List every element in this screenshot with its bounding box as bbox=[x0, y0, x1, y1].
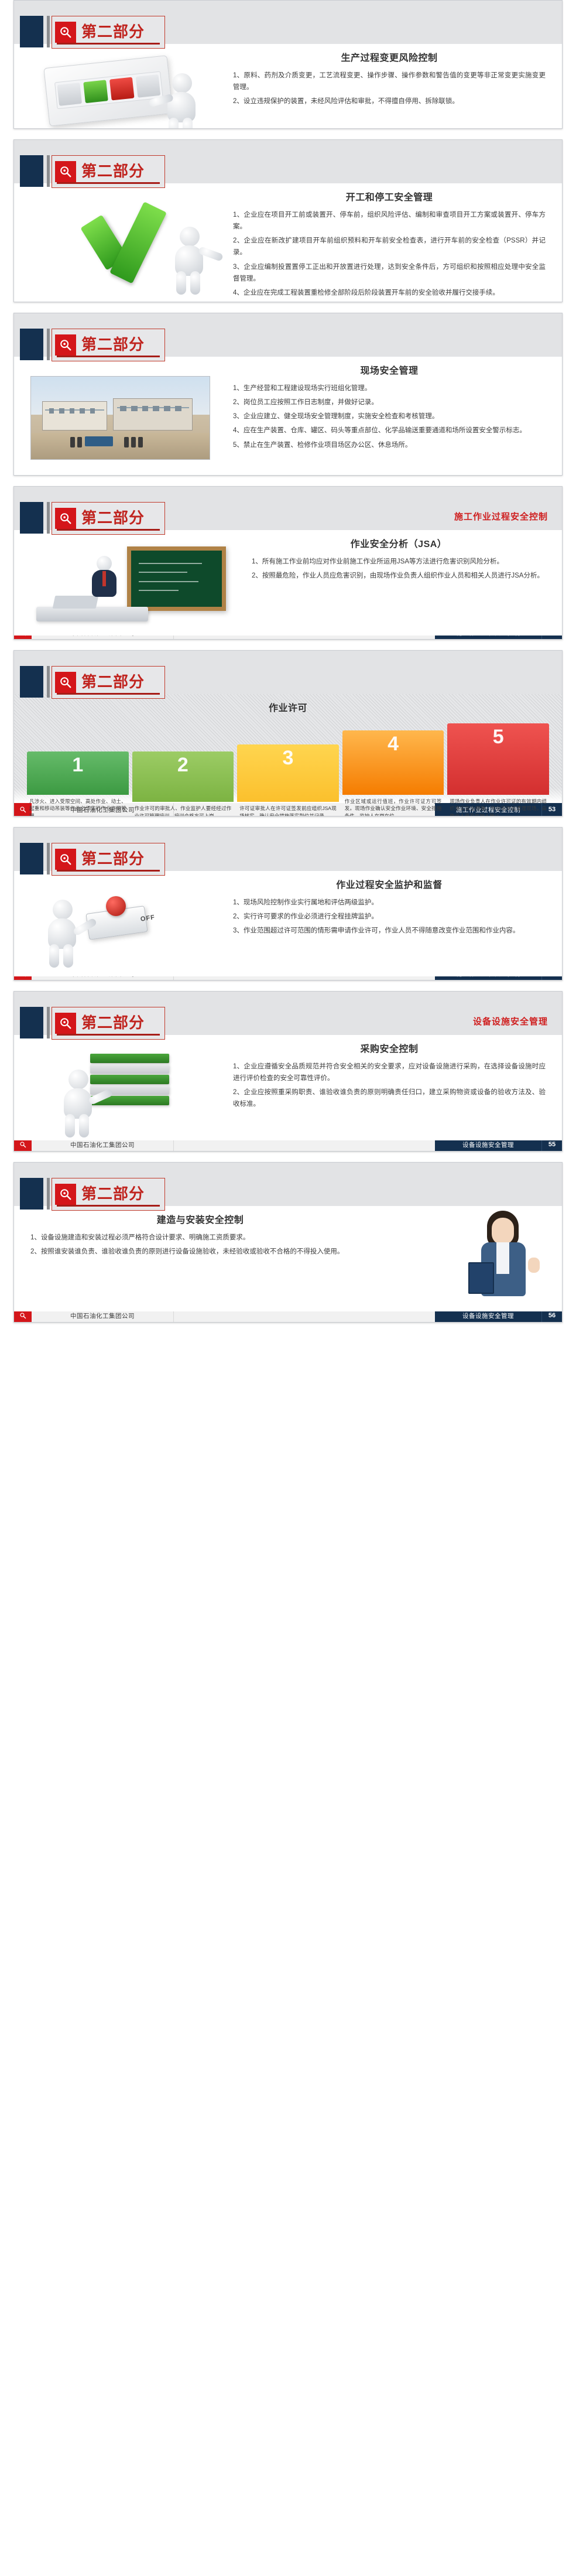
header-title-plate: 第二部分 bbox=[52, 16, 165, 49]
figure-3d-person bbox=[84, 556, 125, 612]
header-underline bbox=[57, 1205, 160, 1207]
step-bar: 4 bbox=[342, 730, 444, 795]
header-navy-block bbox=[20, 1007, 43, 1038]
list-item: 1、所有施工作业前均应对作业前施工作业所运用JSA等方法进行危害识别风险分析。 bbox=[252, 556, 546, 568]
header-title-plate: 第二部分 bbox=[52, 843, 165, 876]
header-underline bbox=[57, 529, 160, 531]
header-title-plate: 第二部分 bbox=[52, 1178, 165, 1211]
slide-text: 建造与安装安全控制 1、设备设施建造和安装过程必须严格符合设计要求、明确施工资质… bbox=[14, 1206, 386, 1311]
figure-3d-person bbox=[30, 900, 94, 968]
step-item: 2 作业许可的审批人、作业监护人要经经过作业许可管理培训，培训合格方可上岗。 bbox=[132, 751, 234, 816]
slide-title: 作业安全分析（JSA） bbox=[252, 536, 546, 550]
slide-title: 作业过程安全监护和监督 bbox=[233, 877, 546, 891]
bullet-list: 1、设备设施建造和安装过程必须严格符合设计要求、明确施工资质要求。 2、按照谁安… bbox=[30, 1232, 370, 1258]
figure-3d-person bbox=[150, 73, 213, 129]
step-number: 2 bbox=[177, 755, 188, 775]
header-navy-block bbox=[20, 502, 43, 534]
list-item: 2、企业应按照重采购职责、谁验收谁负责的原则明确责任归口，建立采购物资或设备的验… bbox=[233, 1087, 546, 1110]
search-target-icon bbox=[55, 161, 76, 182]
step-number: 5 bbox=[493, 727, 504, 747]
slide-title: 生产过程变更风险控制 bbox=[233, 50, 546, 64]
slide: 第二部分 作业许可 1 凡涉火、进入受限空间、高处作业、动土、起重和移动吊装等作… bbox=[13, 650, 563, 816]
search-target-icon bbox=[55, 1013, 76, 1034]
slide-illustration bbox=[14, 44, 229, 129]
slide-illustration: OFF bbox=[14, 871, 229, 976]
header-underline bbox=[57, 43, 160, 45]
step-caption: 作业区域或运行值班，作业许可证方可签发。现场作业确认安全作业环境、安全措施条件，… bbox=[342, 795, 444, 816]
search-target-icon bbox=[55, 849, 76, 870]
header-underline bbox=[57, 182, 160, 184]
header-underline bbox=[57, 1034, 160, 1036]
slide-title: 开工和停工安全管理 bbox=[233, 189, 546, 203]
header-navy-block bbox=[20, 155, 43, 187]
list-item: 3、企业应编制投置置停工正出和开放置进行处理，达到安全条件后，方可组织和按照相应… bbox=[233, 261, 546, 285]
jsa-classroom-board bbox=[127, 546, 226, 611]
slide-title: 建造与安装安全控制 bbox=[30, 1212, 370, 1226]
header-grey-tick bbox=[47, 502, 50, 534]
step-item: 5 现场作业负责人在作业许可证的有效期内组织落实安全措施，作业完毕后清理现场，由… bbox=[447, 723, 549, 816]
list-item: 2、设立违规保护的装置，未经风险评估和审批，不得擅自停用、拆除联锁。 bbox=[233, 95, 546, 107]
header-grey-tick bbox=[47, 1007, 50, 1038]
step-bar: 2 bbox=[132, 751, 234, 802]
list-item: 1、原料、药剂及介质变更，工艺流程变更、操作步骤、操作参数和警告值的变更等非正常… bbox=[233, 70, 546, 93]
slide: 第二部分 施工作业过程安全控制 作 bbox=[13, 486, 563, 640]
slide-text: 作业安全分析（JSA） 1、所有施工作业前均应对作业前施工作业所运用JSA等方法… bbox=[248, 530, 562, 636]
header-underline bbox=[57, 870, 160, 872]
slide-header: 第二部分 开工和停工安全管理 bbox=[14, 140, 562, 289]
header-title-plate: 第二部分 bbox=[52, 155, 165, 188]
header-grey-tick bbox=[47, 16, 50, 47]
step-caption: 作业许可的审批人、作业监护人要经经过作业许可管理培训，培训合格方可上岗。 bbox=[132, 802, 234, 816]
slide: 第二部分 OFF bbox=[13, 827, 563, 980]
list-item: 2、企业应在新改扩建项目开车前组织预料和开车前安全检查表，进行开车前的安全检查（… bbox=[233, 235, 546, 258]
slide-title: 采购安全控制 bbox=[233, 1041, 546, 1055]
slide-header: 第二部分 设备设施安全管理 采 bbox=[14, 992, 562, 1138]
search-target-icon bbox=[55, 1184, 76, 1205]
step-bar: 3 bbox=[237, 744, 339, 802]
bullet-list: 1、企业应遵循安全品质规范并符合安全相关的安全要求，应对设备设施进行采购，在选择… bbox=[233, 1061, 546, 1111]
list-item: 2、按照最危险，作业人员应危害识别，由现场作业负责人组织作业人员和相关人员进行J… bbox=[252, 570, 546, 582]
slide-illustration bbox=[14, 183, 229, 302]
bullet-list: 1、原料、药剂及介质变更，工艺流程变更、操作步骤、操作参数和警告值的变更等非正常… bbox=[233, 70, 546, 107]
header-part-label: 第二部分 bbox=[81, 25, 145, 40]
list-item: 4、应在生产装置、仓库、罐区、码头等重点部位、化学品输送重要通道和场所设置安全警… bbox=[233, 425, 546, 436]
header-underline bbox=[57, 693, 160, 695]
slide-title: 作业许可 bbox=[14, 700, 562, 714]
step-item: 1 凡涉火、进入受限空间、高处作业、动土、起重和移动吊装等作业必须实行作业许可管… bbox=[27, 751, 129, 816]
list-item: 1、生产经营和工程建设现场实行班组化管理。 bbox=[233, 382, 546, 394]
header-navy-block bbox=[20, 843, 43, 874]
slide-illustration bbox=[14, 530, 248, 636]
header-navy-block bbox=[20, 666, 43, 698]
slide-header: 第二部分 现场安全管理 bbox=[14, 313, 562, 462]
slide-header: 第二部分 OFF bbox=[14, 828, 562, 967]
header-grey-tick bbox=[47, 155, 50, 187]
plant-site-photo bbox=[30, 376, 210, 460]
step-caption: 凡涉火、进入受限空间、高处作业、动土、起重和移动吊装等作业必须实行作业许可管理。 bbox=[27, 795, 129, 816]
slide: 第二部分 建造与安装安全控制 1、设备设施建造和安装过程必须严格符合设计要求、明… bbox=[13, 1162, 563, 1323]
header-part-label: 第二部分 bbox=[81, 164, 145, 179]
header-grey-tick bbox=[47, 1178, 50, 1210]
slide-header: 第二部分 生产过程变更风险控制 bbox=[14, 1, 562, 115]
search-target-icon bbox=[55, 672, 76, 693]
slide: 第二部分 现场安全管理 bbox=[13, 313, 563, 476]
figure-3d-person bbox=[46, 1070, 109, 1137]
list-item: 3、企业应建立、健全现场安全管理制度，实施安全检查和考核管理。 bbox=[233, 411, 546, 422]
list-item: 1、企业应遵循安全品质规范并符合安全相关的安全要求，应对设备设施进行采购，在选择… bbox=[233, 1061, 546, 1084]
slide-text: 作业过程安全监护和监督 1、现场风险控制作业实行属地和评估两级监护。 2、实行许… bbox=[229, 871, 562, 976]
slide: 第二部分 生产过程变更风险控制 bbox=[13, 0, 563, 129]
header-grey-tick bbox=[47, 329, 50, 360]
header-section-banner: 设备设施安全管理 bbox=[473, 1015, 548, 1027]
slide-header: 第二部分 施工作业过程安全控制 作 bbox=[14, 487, 562, 626]
header-section-banner: 施工作业过程安全控制 bbox=[454, 510, 548, 522]
five-step-chart: 1 凡涉火、进入受限空间、高处作业、动土、起重和移动吊装等作业必须实行作业许可管… bbox=[14, 720, 562, 816]
step-item: 3 许可证审批人在许可证签发前应组织JSA现场核实，确认安全措施落实到位并记录。 bbox=[237, 744, 339, 816]
step-number: 4 bbox=[388, 734, 399, 754]
list-item: 2、实行许可要求的作业必须进行全程挂牌监护。 bbox=[233, 911, 546, 923]
header-part-label: 第二部分 bbox=[81, 675, 145, 690]
list-item: 4、企业应在完成工程装置重检修全部阶段后阶段装置开车前的安全验收并履行交接手续。 bbox=[233, 287, 546, 299]
header-part-label: 第二部分 bbox=[81, 1016, 145, 1031]
list-item: 1、现场风险控制作业实行属地和评估两级监护。 bbox=[233, 897, 546, 908]
header-navy-block bbox=[20, 16, 43, 47]
slide-illustration bbox=[14, 357, 229, 476]
bullet-list: 1、生产经营和工程建设现场实行班组化管理。 2、岗位员工应按照工作日志制度，并做… bbox=[233, 382, 546, 451]
header-navy-block bbox=[20, 1178, 43, 1210]
slide-text: 采购安全控制 1、企业应遵循安全品质规范并符合安全相关的安全要求，应对设备设施进… bbox=[229, 1035, 562, 1140]
step-bar: 1 bbox=[27, 751, 129, 795]
search-target-icon bbox=[55, 334, 76, 356]
header-title-plate: 第二部分 bbox=[52, 1007, 165, 1040]
header-part-label: 第二部分 bbox=[81, 852, 145, 867]
bullet-list: 1、所有施工作业前均应对作业前施工作业所运用JSA等方法进行危害识别风险分析。 … bbox=[252, 556, 546, 582]
slide-title: 现场安全管理 bbox=[233, 363, 546, 377]
header-part-label: 第二部分 bbox=[81, 1187, 145, 1202]
step-number: 1 bbox=[72, 755, 83, 775]
header-part-label: 第二部分 bbox=[81, 337, 145, 353]
search-target-icon bbox=[55, 22, 76, 43]
slide-text: 开工和停工安全管理 1、企业应在项目开工前或装置开、停车前，组织风险评估、编制和… bbox=[229, 183, 562, 302]
slide-text: 现场安全管理 1、生产经营和工程建设现场实行班组化管理。 2、岗位员工应按照工作… bbox=[229, 357, 562, 476]
slide-deck: 第二部分 生产过程变更风险控制 bbox=[0, 0, 576, 1333]
header-grey-tick bbox=[47, 843, 50, 874]
step-caption: 现场作业负责人在作业许可证的有效期内组织落实安全措施，作业完毕后清理现场，由作业… bbox=[447, 795, 549, 816]
step-bar: 5 bbox=[447, 723, 549, 795]
header-grey-tick bbox=[47, 666, 50, 698]
slide-header: 第二部分 建造与安装安全控制 1、设备设施建造和安装过程必须严格符合设计要求、明… bbox=[14, 1163, 562, 1309]
business-woman-photo bbox=[465, 1208, 542, 1309]
slide-text: 生产过程变更风险控制 1、原料、药剂及介质变更，工艺流程变更、操作步骤、操作参数… bbox=[229, 44, 562, 129]
slide-illustration bbox=[386, 1206, 562, 1311]
on-off-label: OFF bbox=[140, 914, 155, 923]
list-item: 5、禁止在生产装置、检修作业项目场区办公区、休息场所。 bbox=[233, 439, 546, 451]
list-item: 3、作业范围超过许可范围的情形需申请作业许可，作业人员不得随意改变作业范围和作业… bbox=[233, 925, 546, 937]
step-number: 3 bbox=[283, 748, 294, 768]
header-navy-block bbox=[20, 329, 43, 360]
header-title-plate: 第二部分 bbox=[52, 329, 165, 361]
list-item: 1、企业应在项目开工前或装置开、停车前，组织风险评估、编制和审查项目开工方案或装… bbox=[233, 209, 546, 233]
bullet-list: 1、企业应在项目开工前或装置开、停车前，组织风险评估、编制和审查项目开工方案或装… bbox=[233, 209, 546, 299]
bullet-list: 1、现场风险控制作业实行属地和评估两级监护。 2、实行许可要求的作业必须进行全程… bbox=[233, 897, 546, 937]
search-target-icon bbox=[55, 508, 76, 529]
list-item: 2、岗位员工应按照工作日志制度，并做好记录。 bbox=[233, 397, 546, 408]
slide-header: 第二部分 作业许可 1 凡涉火、进入受限空间、高处作业、动土、起重和移动吊装等作… bbox=[14, 651, 562, 803]
figure-3d-person bbox=[157, 227, 221, 295]
header-underline bbox=[57, 356, 160, 357]
header-title-plate: 第二部分 bbox=[52, 502, 165, 535]
list-item: 1、设备设施建造和安装过程必须严格符合设计要求、明确施工资质要求。 bbox=[30, 1232, 370, 1243]
slide-illustration bbox=[14, 1035, 229, 1140]
step-caption: 许可证审批人在许可证签发前应组织JSA现场核实，确认安全措施落实到位并记录。 bbox=[237, 802, 339, 816]
slide: 第二部分 开工和停工安全管理 bbox=[13, 139, 563, 302]
step-item: 4 作业区域或运行值班，作业许可证方可签发。现场作业确认安全作业环境、安全措施条… bbox=[342, 730, 444, 816]
slide: 第二部分 设备设施安全管理 采 bbox=[13, 991, 563, 1152]
header-title-plate: 第二部分 bbox=[52, 666, 165, 699]
header-part-label: 第二部分 bbox=[81, 511, 145, 526]
list-item: 2、按照谁安装谁负责、谁验收谁负责的原则进行设备设施验收，未经验收或验收不合格的… bbox=[30, 1246, 370, 1258]
